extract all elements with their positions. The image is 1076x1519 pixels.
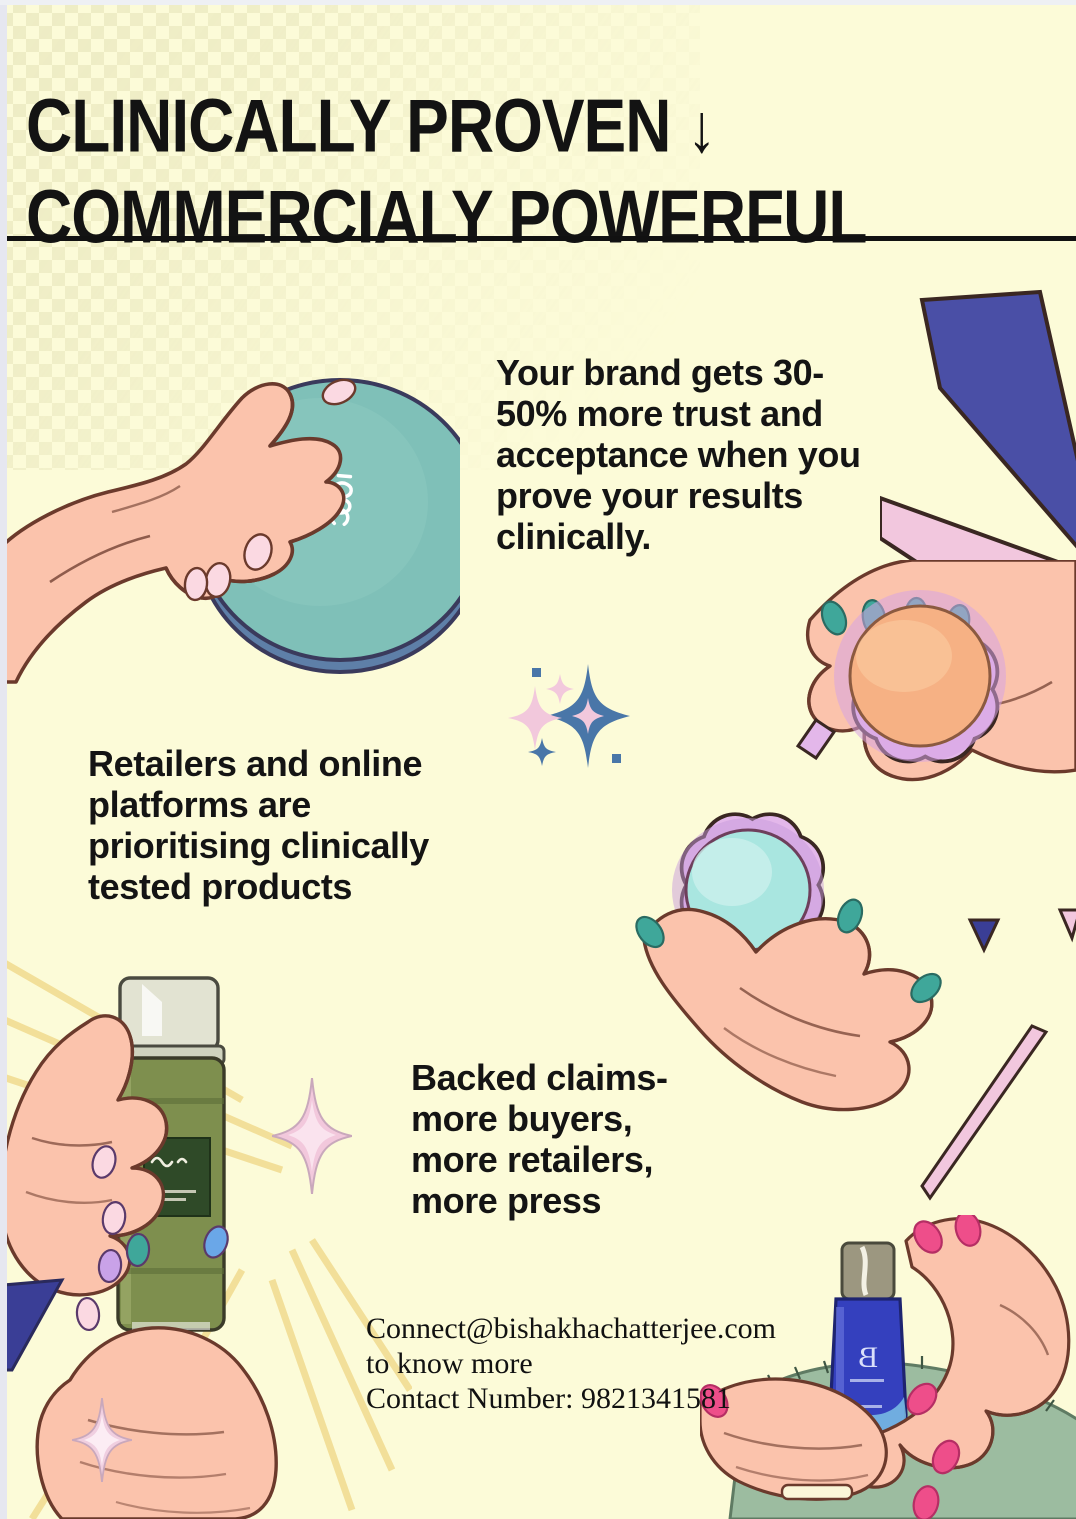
copy-line: acceptance when you [496, 434, 861, 475]
headline-line-2: COMMERCIALY POWERFUL [26, 173, 1036, 260]
contact-phone[interactable]: Contact Number: 9821341581 [366, 1381, 776, 1416]
blue-shard [0, 1280, 62, 1370]
svg-text:B: B [858, 1341, 878, 1374]
copy-line: more press [411, 1180, 668, 1221]
copy-block-retailers: Retailers and online platforms are prior… [88, 743, 429, 907]
contact-block: Connect@bishakhachatterjee.com to know m… [366, 1311, 776, 1416]
copy-line: more retailers, [411, 1139, 668, 1180]
headline-text-1: CLINICALLY PROVEN [26, 83, 670, 168]
sparkle-cluster-icon [508, 658, 638, 778]
copy-block-trust: Your brand gets 30- 50% more trust and a… [496, 352, 861, 557]
copy-line: prove your results [496, 475, 861, 516]
page-edge-left [0, 0, 7, 1519]
sparkle-pink-small-icon [72, 1398, 132, 1482]
header-divider [0, 236, 1076, 241]
contact-cta: to know more [366, 1346, 776, 1381]
illustration-hands-with-flower-compacts [620, 560, 1076, 1120]
copy-line: prioritising clinically [88, 825, 429, 866]
lower-hand [644, 910, 932, 1110]
poster-canvas: B CLINICALLY PR [0, 0, 1076, 1519]
illustration-hands-with-green-bottle [0, 950, 412, 1519]
copy-line: more buyers, [411, 1098, 668, 1139]
headline-line-1: CLINICALLY PROVEN ↓ [26, 82, 1036, 173]
copy-line: Your brand gets 30- [496, 352, 861, 393]
copy-line: Retailers and online [88, 743, 429, 784]
copy-line: platforms are [88, 784, 429, 825]
copy-line: clinically. [496, 516, 861, 557]
contact-email[interactable]: Connect@bishakhachatterjee.com [366, 1311, 776, 1346]
page-edge-top [0, 0, 1076, 5]
copy-line: 50% more trust and [496, 393, 861, 434]
illustration-hand-with-compact [0, 352, 460, 692]
copy-line: tested products [88, 866, 429, 907]
down-arrow-icon: ↓ [687, 90, 715, 167]
copy-line: Backed claims- [411, 1057, 668, 1098]
sparkle-pink-large-icon [272, 1078, 352, 1194]
copy-block-backed-claims: Backed claims- more buyers, more retaile… [411, 1057, 668, 1221]
page-title: CLINICALLY PROVEN ↓ COMMERCIALY POWERFUL [26, 82, 1036, 247]
